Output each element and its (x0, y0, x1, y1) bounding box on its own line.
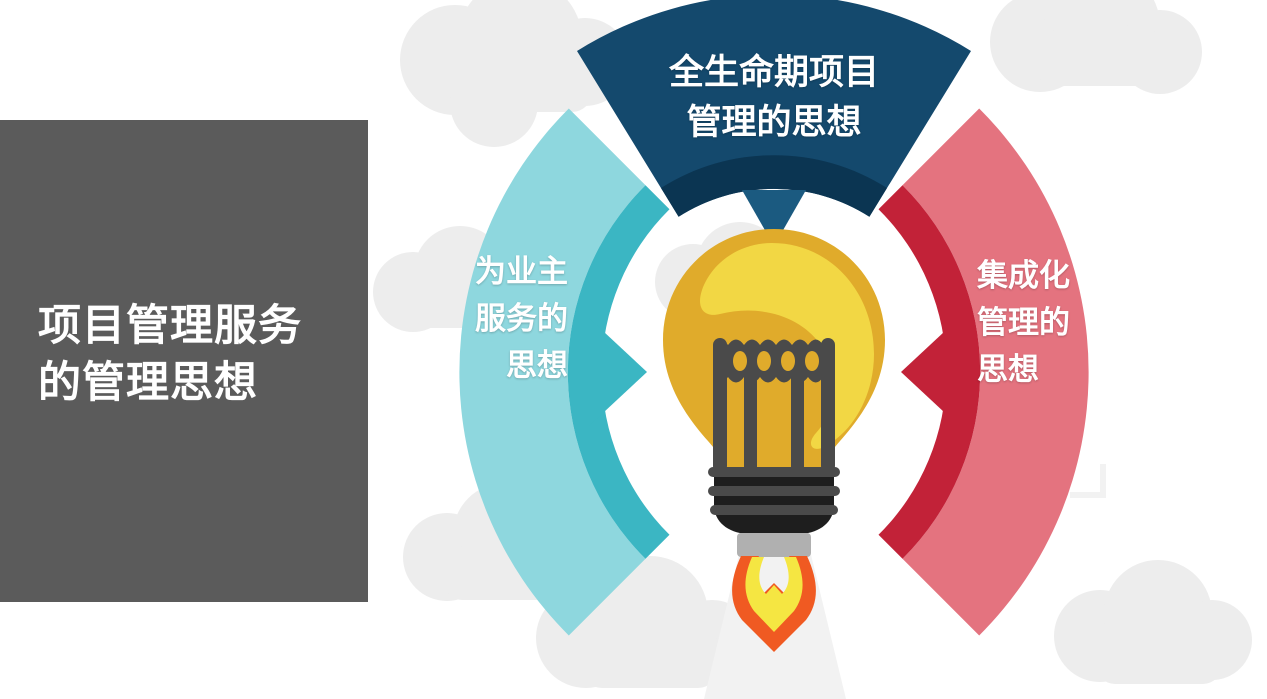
title-panel: 项目管理服务 的管理思想 (0, 120, 368, 602)
crop-corner-mark (1070, 464, 1106, 498)
crop-mark-horizontal (1070, 492, 1106, 498)
page-title: 项目管理服务 的管理思想 (38, 298, 338, 412)
bulb-tip (737, 533, 811, 557)
slide-canvas: 项目管理服务 的管理思想 全生命期项目 管理的思想 为业主 服务的 思想 集成化… (0, 0, 1267, 699)
segment-right (879, 109, 1089, 636)
bulb-base (708, 467, 840, 557)
